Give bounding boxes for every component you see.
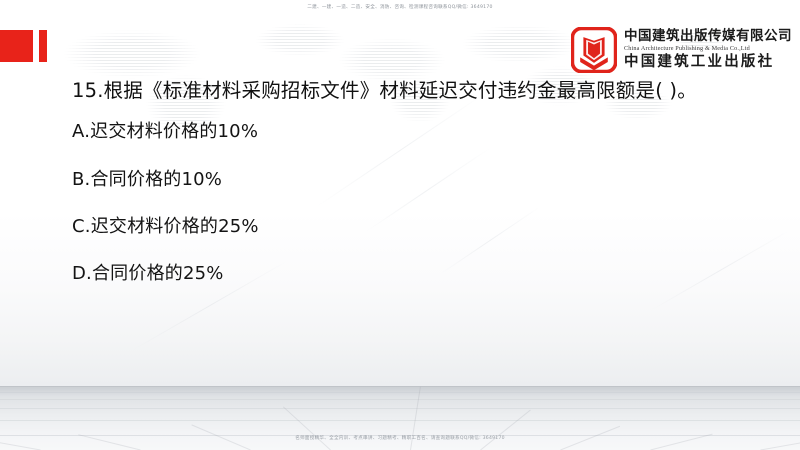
answer-option-c[interactable]: C.迟交材料价格的25%: [72, 215, 780, 238]
publisher-company-name-en: China Architecture Publishing & Media Co…: [624, 44, 792, 53]
answer-option-b[interactable]: B.合同价格的10%: [72, 168, 780, 191]
answer-option-a[interactable]: A.迟交材料价格的10%: [72, 120, 780, 143]
floor-grid-line-vertical: [410, 387, 421, 450]
floor-grid-line-vertical: [650, 434, 712, 450]
publisher-press-name-cn: 中国建筑工业出版社: [624, 54, 792, 71]
floor-grid-line-horizontal: [0, 392, 800, 393]
floor-grid-line-vertical: [0, 438, 41, 450]
floor-grid-line-horizontal: [0, 420, 800, 421]
floor-grid-line-vertical: [78, 434, 140, 450]
publisher-logo: 中国建筑出版传媒有限公司 China Architecture Publishi…: [571, 27, 792, 73]
answer-options-list: A.迟交材料价格的10% B.合同价格的10% C.迟交材料价格的25% D.合…: [72, 120, 780, 286]
question-content: 15.根据《标准材料采购招标文件》材料延迟交付违约金最高限额是( )。 A.迟交…: [72, 78, 780, 286]
floor-grid-line-vertical: [760, 438, 800, 450]
floor-grid-line-horizontal: [0, 435, 800, 436]
floor-grid-line-horizontal: [0, 399, 800, 400]
open-book-logo-icon: [571, 27, 617, 73]
floor-grid-line-vertical: [191, 424, 250, 450]
floor-grid-line-vertical: [560, 426, 620, 450]
floor-grid-line-vertical: [480, 410, 531, 450]
publisher-logo-text: 中国建筑出版传媒有限公司 China Architecture Publishi…: [624, 29, 792, 71]
question-stem: 15.根据《标准材料采购招标文件》材料延迟交付违约金最高限额是( )。: [72, 78, 780, 104]
red-block-large: [0, 30, 33, 62]
floor-horizon-line: [0, 386, 800, 388]
publisher-company-name-cn: 中国建筑出版传媒有限公司: [624, 29, 792, 45]
presentation-slide: 中国建筑出版传媒有限公司 China Architecture Publishi…: [0, 0, 800, 450]
perspective-floor: [0, 386, 800, 450]
answer-option-d[interactable]: D.合同价格的25%: [72, 262, 780, 285]
floor-grid-line-horizontal: [0, 408, 800, 409]
floor-grid-line-vertical: [283, 406, 331, 450]
red-block-thin: [39, 30, 47, 62]
